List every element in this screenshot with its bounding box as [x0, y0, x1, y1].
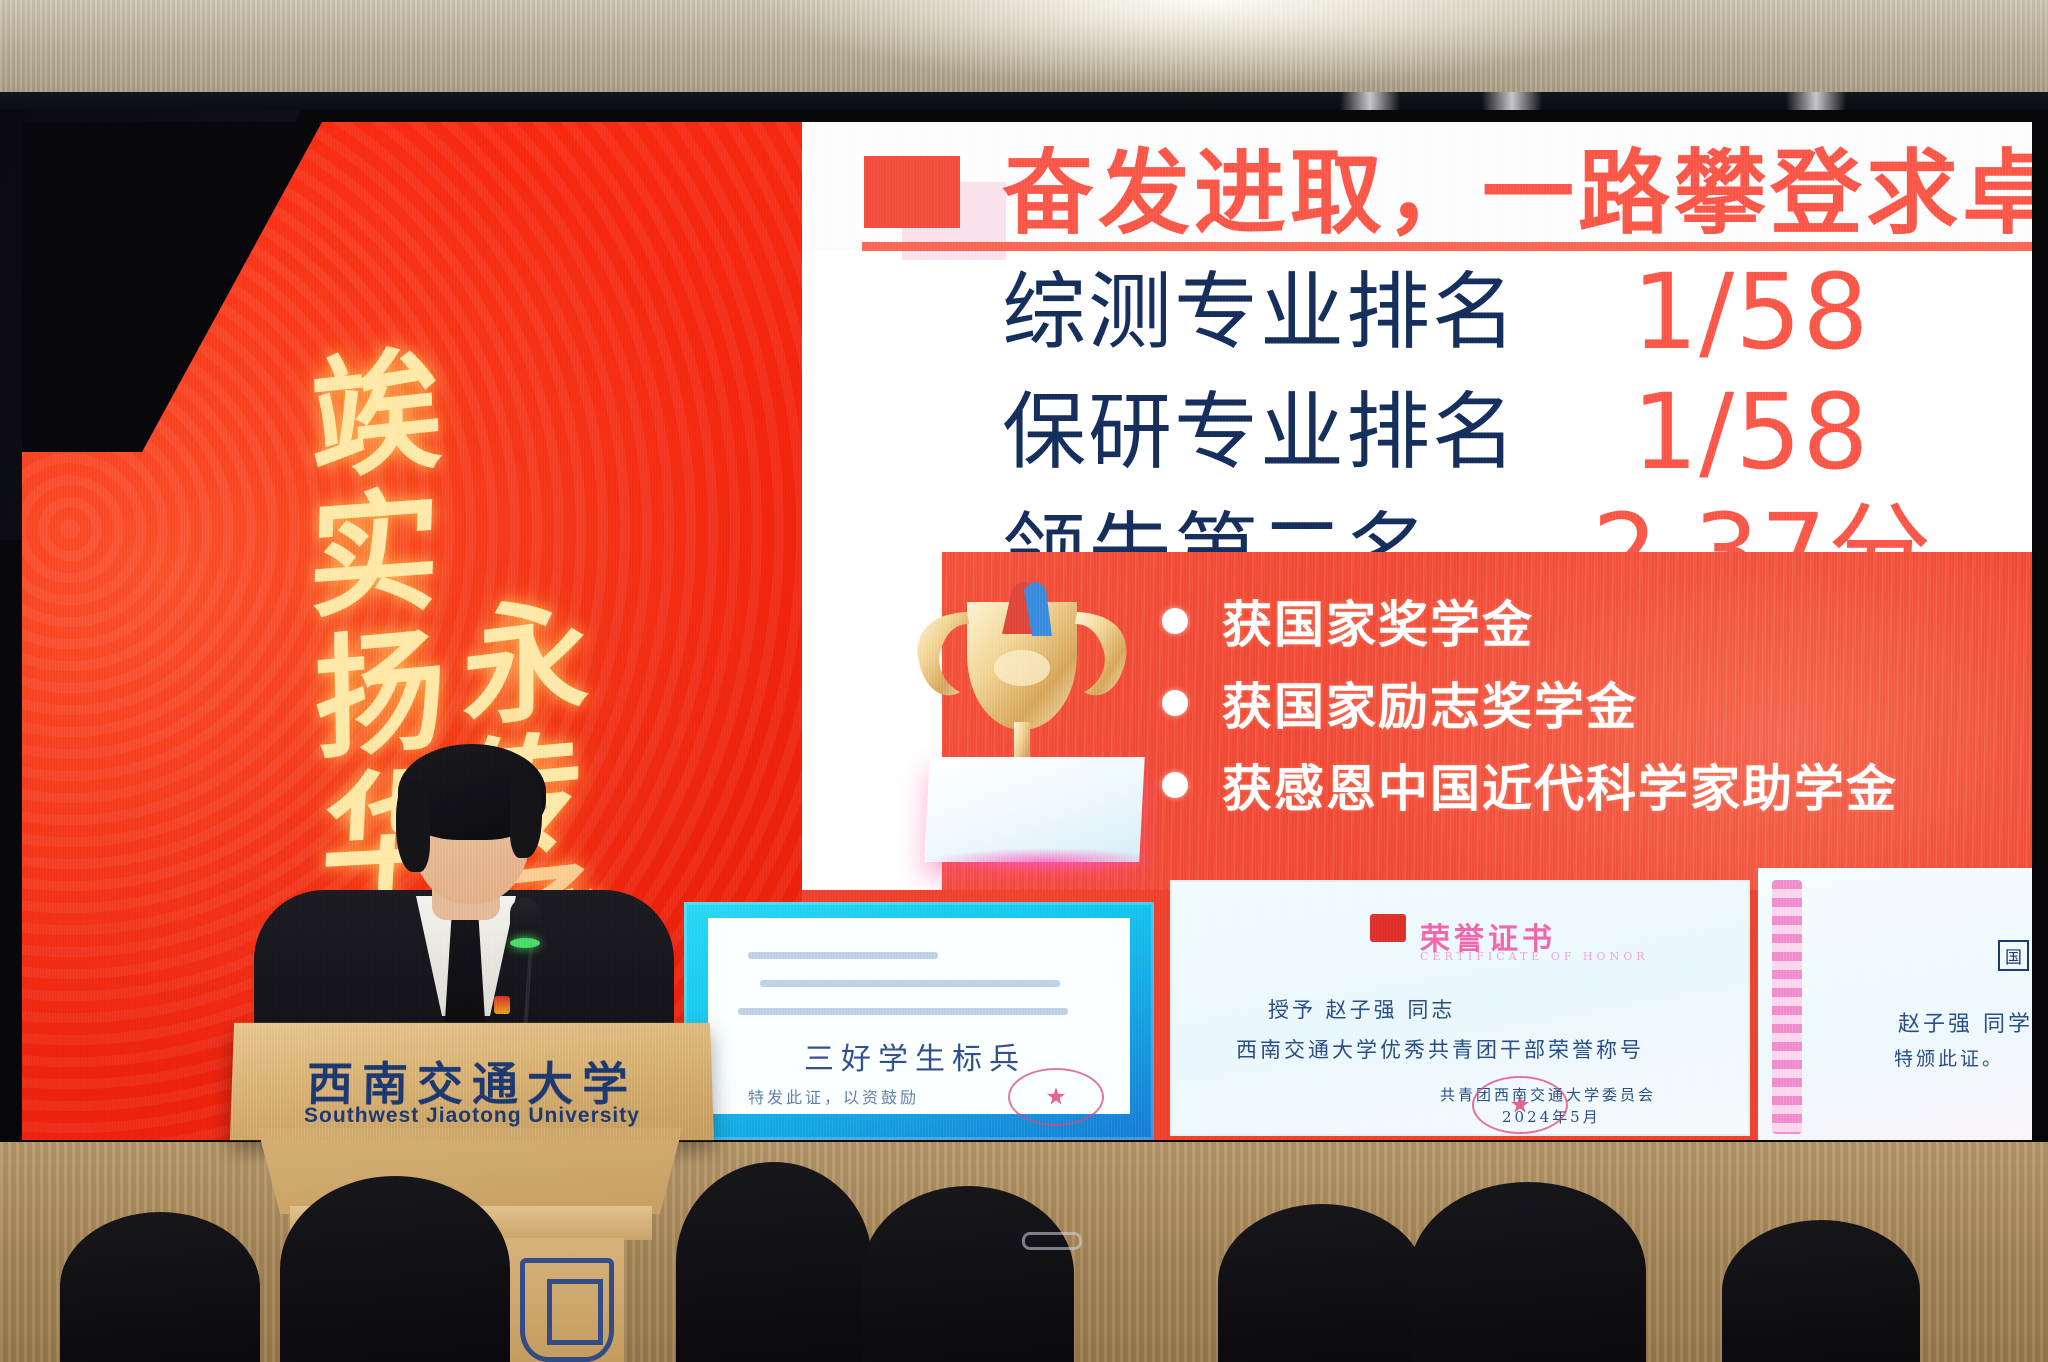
audience-head — [1218, 1204, 1426, 1362]
certificate-inner: 三好学生标兵 特发此证，以资鼓励 ★ — [708, 918, 1130, 1114]
audience-head — [1410, 1182, 1646, 1362]
audience-head — [862, 1186, 1074, 1362]
audience-head — [1722, 1220, 1920, 1362]
certificates-row: 三好学生标兵 特发此证，以资鼓励 ★ 荣誉证书 CERTIFICATE OF H… — [802, 890, 2032, 1140]
certificate-b-subtitle: CERTIFICATE OF HONOR — [1420, 950, 1649, 963]
calligraphy-char-5: 永 — [462, 592, 589, 737]
bullet-label-2: 获国家励志奖学金 — [1222, 667, 1638, 739]
certificate-a-footer: 特发此证，以资鼓励 — [748, 1084, 919, 1108]
presentation-slide: 奋发进取，一路攀登求卓越 综测专业排名 1/58 保研专业排名 1/58 领先第… — [802, 122, 2032, 1140]
slide-title: 奋发进取，一路攀登求卓越 — [1002, 144, 2032, 243]
speaker-hair-left — [396, 780, 430, 872]
certificate-c-lace-border — [1772, 880, 1802, 1134]
certificate-b-stamp: ★ — [1472, 1076, 1568, 1134]
calligraphy-char-1: 竢 — [309, 343, 443, 489]
certificate-c-seal-mark: 国 — [1998, 940, 2029, 971]
trophy-podium-glow — [930, 848, 1162, 874]
stat-value-2: 1/58 — [1632, 380, 1870, 484]
list-item: 获国家励志奖学金 — [1162, 662, 2032, 744]
speaker-person — [248, 740, 678, 1040]
audience-head — [676, 1162, 872, 1362]
star-icon: ★ — [1045, 1083, 1067, 1112]
audience-head — [60, 1212, 260, 1362]
bullet-label-1: 获国家奖学金 — [1222, 585, 1534, 657]
party-emblem-pin-icon — [494, 996, 510, 1014]
bullet-dot-icon — [1162, 772, 1188, 798]
slide-header: 奋发进取，一路攀登求卓越 — [802, 122, 2032, 250]
certificate-three-good-student: 三好学生标兵 特发此证，以资鼓励 ★ — [684, 902, 1154, 1140]
trophy-podium-base — [924, 757, 1145, 862]
star-icon: ★ — [1509, 1091, 1531, 1120]
trophy-icon — [872, 572, 1172, 882]
stat-row: 综测专业排名 1/58 — [802, 270, 2032, 380]
ceiling-light-glow — [760, 0, 1660, 90]
certificate-honor: 荣誉证书 CERTIFICATE OF HONOR 授予 赵子强 同志 西南交通… — [1170, 880, 1750, 1136]
slide-header-rule — [862, 242, 2032, 251]
audience-head — [280, 1176, 510, 1362]
certificate-b-award: 西南交通大学优秀共青团干部荣誉称号 — [1236, 1034, 1644, 1064]
university-crest-icon — [520, 1258, 614, 1362]
lectern-name-en: Southwest Jiaotong University — [232, 1104, 713, 1128]
microphone-led-ring — [510, 938, 540, 948]
stat-value-1: 1/58 — [1632, 260, 1870, 364]
honor-badge-icon — [1370, 914, 1406, 942]
bullet-label-3: 获感恩中国近代科学家助学金 — [1222, 749, 1898, 821]
speaker-hair-right — [510, 776, 542, 858]
certificate-c-recipient: 赵子强 同学 — [1898, 1006, 2032, 1038]
stat-label-1: 综测专业排名 — [1002, 270, 1518, 354]
list-item: 获国家奖学金 — [1162, 580, 2032, 662]
audience-glasses-icon — [1022, 1232, 1082, 1250]
certificate-c-footer: 特颁此证。 — [1894, 1044, 2004, 1071]
list-item: 获感恩中国近代科学家助学金 — [1162, 744, 2032, 826]
achievements-list: 获国家奖学金 获国家励志奖学金 获感恩中国近代科学家助学金 — [1162, 580, 2032, 826]
screenshot-root: 竢 实 扬 华 永 传 承 奋发进取，一路攀登求卓越 综测专业排名 1/58 — [0, 0, 2048, 1362]
stat-label-2: 保研专业排名 — [1002, 390, 1518, 474]
bullet-dot-icon — [1162, 608, 1188, 634]
certificate-b-recipient: 授予 赵子强 同志 — [1268, 994, 1455, 1024]
stat-row: 保研专业排名 1/58 — [802, 390, 2032, 500]
calligraphy-char-2: 实 — [306, 485, 442, 627]
certificate-scholarship: 国 赵子强 同学 特颁此证。 — [1758, 868, 2032, 1140]
header-red-square-icon — [864, 156, 960, 228]
bullet-dot-icon — [1162, 690, 1188, 716]
certificate-a-title: 三好学生标兵 — [804, 1034, 1026, 1078]
certificate-a-stamp: ★ — [1008, 1068, 1104, 1126]
